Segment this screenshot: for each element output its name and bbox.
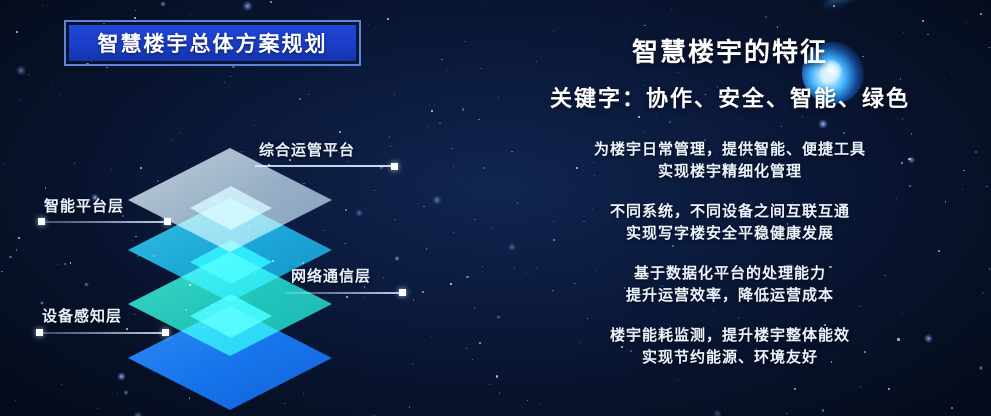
- star: [431, 110, 433, 112]
- feature-line-1: 基于数据化平台的处理能力: [500, 263, 960, 285]
- star: [224, 82, 225, 83]
- star: [989, 268, 991, 270]
- star: [15, 400, 16, 401]
- star: [794, 388, 796, 390]
- star: [988, 47, 989, 48]
- star: [42, 5, 43, 6]
- callout-leader-line: [285, 292, 403, 294]
- star: [16, 249, 17, 250]
- star: [16, 31, 17, 32]
- star: [387, 18, 389, 20]
- callout-label: 综合运管平台: [259, 139, 355, 160]
- callout-endpoint-dot: [399, 289, 406, 296]
- star: [428, 126, 429, 127]
- features-heading: 智慧楼宇的特征: [500, 32, 960, 69]
- star-glow: [979, 366, 983, 370]
- star: [254, 125, 255, 126]
- feature-item: 基于数据化平台的处理能力 提升运营效率，降低运营成本: [500, 263, 960, 307]
- star: [339, 131, 341, 133]
- star: [439, 122, 441, 124]
- feature-line-1: 为楼宇日常管理，提供智能、便捷工具: [500, 139, 960, 161]
- callout-start-dot: [36, 329, 43, 336]
- callout-start-dot: [38, 218, 45, 225]
- star: [4, 91, 5, 92]
- star: [179, 132, 180, 133]
- star: [190, 14, 191, 15]
- star: [462, 108, 464, 110]
- star: [980, 13, 982, 15]
- page-title: 智慧楼宇总体方案规划: [98, 28, 328, 58]
- star: [527, 400, 528, 401]
- star: [389, 136, 390, 137]
- feature-line-2: 实现楼宇精细化管理: [500, 161, 960, 183]
- star: [986, 186, 987, 187]
- layer-stack-diagram: [40, 140, 470, 390]
- star: [479, 342, 481, 344]
- star: [483, 167, 485, 169]
- presentation-slide: 智慧楼宇总体方案规划 综合运管平台 智能平台层 网络通信层 设备感知层 智慧楼宇…: [0, 0, 991, 416]
- star: [498, 97, 499, 98]
- star: [4, 164, 5, 165]
- star: [232, 66, 234, 68]
- callout-leader-line: [36, 332, 166, 334]
- star: [230, 76, 231, 77]
- star: [833, 5, 835, 7]
- star: [951, 407, 953, 409]
- slide-title-plaque: 智慧楼宇总体方案规划: [64, 20, 361, 66]
- callout-label: 网络通信层: [291, 265, 371, 286]
- star: [540, 404, 541, 405]
- star: [446, 70, 447, 71]
- star: [671, 9, 672, 10]
- star: [52, 82, 53, 83]
- feature-item: 楼宇能耗监测，提升楼宇整体能效 实现节约能源、环境友好: [500, 325, 960, 369]
- star: [409, 406, 410, 407]
- diagram-layer-device-sensing: [128, 306, 332, 410]
- star: [474, 307, 475, 308]
- star: [786, 413, 787, 414]
- star: [394, 94, 395, 95]
- features-list: 为楼宇日常管理，提供智能、便捷工具 实现楼宇精细化管理 不同系统，不同设备之间互…: [500, 139, 960, 369]
- star: [966, 302, 967, 303]
- star: [299, 98, 301, 100]
- star: [135, 10, 136, 11]
- feature-item: 为楼宇日常管理，提供智能、便捷工具 实现楼宇精细化管理: [500, 139, 960, 183]
- star: [464, 41, 466, 43]
- star: [1, 271, 2, 272]
- star-glow: [160, 1, 166, 7]
- star: [19, 99, 20, 100]
- feature-item: 不同系统，不同设备之间互联互通 实现写字楼安全平稳健康发展: [500, 201, 960, 245]
- star: [982, 292, 983, 293]
- star: [481, 2, 482, 3]
- star: [368, 24, 369, 25]
- callout-leader-line: [38, 221, 168, 223]
- star: [822, 409, 824, 411]
- star: [482, 266, 483, 267]
- feature-line-1: 不同系统，不同设备之间互联互通: [500, 201, 960, 223]
- star: [481, 68, 482, 69]
- star-glow: [133, 411, 143, 416]
- star: [499, 392, 500, 393]
- star: [456, 26, 457, 27]
- star-glow: [713, 409, 722, 416]
- feature-line-1: 楼宇能耗监测，提升楼宇整体能效: [500, 325, 960, 347]
- star-glow: [16, 65, 26, 75]
- star: [117, 393, 118, 394]
- star: [496, 375, 498, 377]
- star: [189, 397, 190, 398]
- star: [270, 1, 272, 3]
- star-glow: [242, 1, 253, 12]
- star: [888, 388, 890, 390]
- features-panel: 智慧楼宇的特征 关键字：协作、安全、智能、绿色 为楼宇日常管理，提供智能、便捷工…: [500, 18, 960, 387]
- callout-endpoint-dot: [391, 163, 398, 170]
- star: [478, 119, 479, 120]
- star: [308, 94, 309, 95]
- star: [18, 237, 20, 239]
- callout-endpoint-dot: [162, 329, 169, 336]
- star-glow: [123, 390, 129, 396]
- star: [966, 22, 967, 23]
- star: [262, 114, 263, 115]
- feature-line-2: 提升运营效率，降低运营成本: [500, 285, 960, 307]
- star: [28, 74, 29, 75]
- features-keywords: 关键字：协作、安全、智能、绿色: [500, 81, 960, 113]
- feature-line-2: 实现写字楼安全平稳健康发展: [500, 223, 960, 245]
- comet-tail: [813, 0, 969, 20]
- star: [303, 393, 304, 394]
- star: [489, 384, 490, 385]
- callout-label: 设备感知层: [42, 305, 122, 326]
- star: [60, 94, 61, 95]
- star: [9, 256, 11, 258]
- star: [491, 227, 492, 228]
- star: [97, 408, 98, 409]
- feature-line-2: 实现节约能源、环境友好: [500, 347, 960, 369]
- star: [975, 151, 977, 153]
- star: [962, 189, 963, 190]
- callout-leader-line: [255, 165, 395, 167]
- star: [472, 359, 473, 360]
- comet-tail-core: [821, 0, 948, 11]
- callout-label: 智能平台层: [44, 195, 124, 216]
- star: [134, 17, 136, 19]
- star: [474, 219, 475, 220]
- star: [441, 59, 442, 60]
- star: [106, 67, 107, 68]
- slide-title-inner: 智慧楼宇总体方案规划: [69, 25, 356, 61]
- callout-endpoint-dot: [164, 218, 171, 225]
- star: [284, 403, 285, 404]
- star: [963, 170, 964, 171]
